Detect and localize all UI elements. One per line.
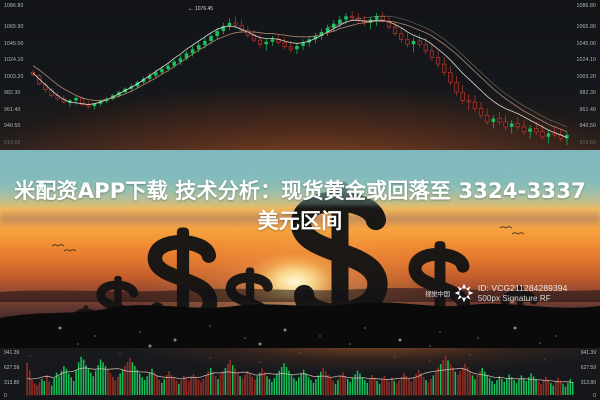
price-axis-left-3: 1024.10 <box>4 57 23 63</box>
watermark-brand-label: 视觉中国 <box>425 288 450 298</box>
article-image-card: ← 1076.45 1086.80 1065.90 1045.00 1024.1… <box>0 0 600 400</box>
annotation-arrow-icon: ← <box>188 6 194 12</box>
volume-chart-canvas <box>0 348 600 400</box>
watermark: 视觉中国 ID: VCG211284289394 500px Signature… <box>425 282 567 304</box>
annotation-value: 1076.45 <box>195 6 213 12</box>
watermark-id: ID: VCG211284289394 <box>478 283 568 293</box>
price-chart-panel: ← 1076.45 1086.80 1065.90 1045.00 1024.1… <box>0 0 600 160</box>
volume-axis-left-2: 313.80 <box>4 380 19 386</box>
price-axis-left-7: 940.50 <box>4 123 20 129</box>
price-axis-left-2: 1045.00 <box>4 41 23 47</box>
price-axis-right-7: 940.50 <box>580 123 596 129</box>
price-axis-right-5: 982.30 <box>580 90 596 96</box>
price-chart-canvas <box>0 0 600 160</box>
watermark-license: 500px Signature RF <box>478 294 568 303</box>
sunset-photo <box>0 150 600 350</box>
price-axis-right-2: 1045.00 <box>577 41 596 47</box>
volume-axis-left-1: 627.59 <box>4 365 19 371</box>
headline-tint-band <box>0 150 600 208</box>
volume-axis-left-3: 0 <box>4 393 7 399</box>
volume-axis-right-3: 0 <box>593 393 596 399</box>
volume-axis-right-2: 313.80 <box>581 380 596 386</box>
price-axis-right-4: 1003.20 <box>577 74 596 80</box>
price-axis-left-1: 1065.90 <box>4 24 23 30</box>
price-annotation: ← 1076.45 <box>188 6 213 12</box>
watermark-text-block: ID: VCG211284289394 500px Signature RF <box>478 283 568 303</box>
price-axis-right-8: 919.60 <box>580 140 596 146</box>
price-axis-left-0: 1086.80 <box>4 3 23 9</box>
volume-axis-right-1: 627.59 <box>581 365 596 371</box>
price-axis-right-0: 1086.80 <box>577 3 596 9</box>
price-axis-left-6: 961.40 <box>4 107 20 113</box>
volume-chart-panel: 941.39 627.59 313.80 0 941.39 627.59 313… <box>0 348 600 400</box>
price-axis-left-5: 982.30 <box>4 90 20 96</box>
price-axis-right-6: 961.40 <box>580 107 596 113</box>
price-axis-left-8: 919.60 <box>4 140 20 146</box>
price-axis-right-1: 1065.90 <box>577 24 596 30</box>
volume-axis-right-0: 941.39 <box>581 350 596 356</box>
vcg-logo-icon <box>453 282 475 304</box>
price-axis-left-4: 1003.20 <box>4 74 23 80</box>
price-axis-right-3: 1024.10 <box>577 57 596 63</box>
volume-axis-left-0: 941.39 <box>4 350 19 356</box>
